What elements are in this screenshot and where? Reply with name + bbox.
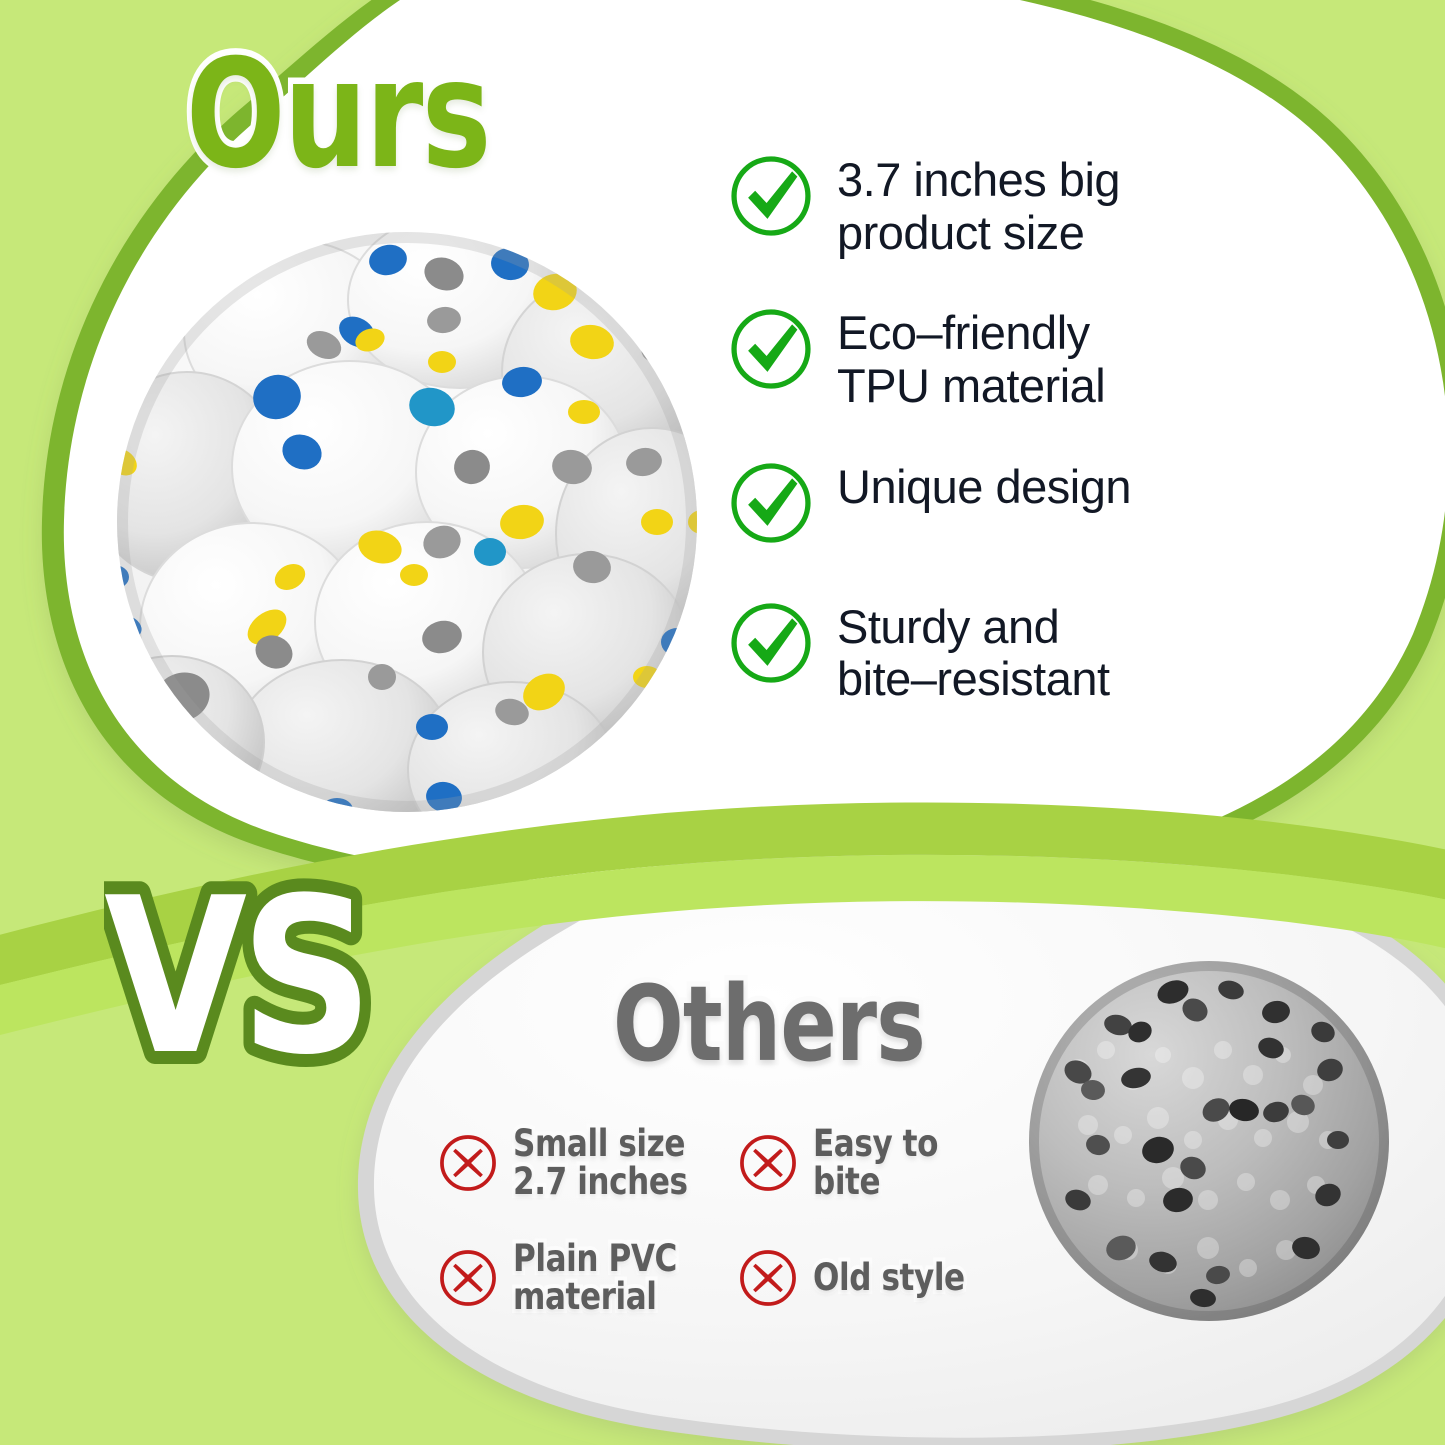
- con-label: Small size 2.7 inches: [513, 1125, 688, 1202]
- feature-label: Eco–friendly TPU material: [837, 303, 1105, 412]
- check-circle-icon: [727, 599, 815, 687]
- ours-title: Ours: [186, 40, 490, 190]
- feature-item: Unique design: [727, 457, 1197, 553]
- con-item: Old style: [737, 1240, 1017, 1317]
- con-item: Plain PVC material: [437, 1240, 737, 1317]
- feature-item: Sturdy and bite–resistant: [727, 597, 1197, 706]
- others-product-image: [1018, 950, 1400, 1332]
- ours-feature-list: 3.7 inches big product size Eco–friendly…: [727, 150, 1197, 706]
- x-circle-icon: [737, 1132, 799, 1194]
- feature-label: Sturdy and bite–resistant: [837, 597, 1110, 706]
- con-label: Old style: [813, 1259, 965, 1297]
- con-item: Small size 2.7 inches: [437, 1125, 737, 1202]
- x-circle-icon: [437, 1247, 499, 1309]
- others-title: Others: [613, 972, 925, 1076]
- con-label: Easy to bite: [813, 1125, 984, 1202]
- feature-label: Unique design: [837, 457, 1131, 514]
- feature-item: Eco–friendly TPU material: [727, 303, 1197, 412]
- feature-item: 3.7 inches big product size: [727, 150, 1197, 259]
- con-label: Plain PVC material: [513, 1240, 677, 1317]
- x-circle-icon: [437, 1132, 499, 1194]
- feature-label: 3.7 inches big product size: [837, 150, 1120, 259]
- comparison-infographic: Ours: [0, 0, 1445, 1445]
- ours-product-image: [92, 222, 722, 822]
- check-circle-icon: [727, 305, 815, 393]
- check-circle-icon: [727, 152, 815, 240]
- others-cons-list: Small size 2.7 inches Easy to bite Plain…: [437, 1125, 1017, 1317]
- con-item: Easy to bite: [737, 1125, 1017, 1202]
- check-circle-icon: [727, 459, 815, 547]
- vs-label: VS: [104, 855, 366, 1102]
- x-circle-icon: [737, 1247, 799, 1309]
- vs-badge: VS: [104, 855, 504, 1105]
